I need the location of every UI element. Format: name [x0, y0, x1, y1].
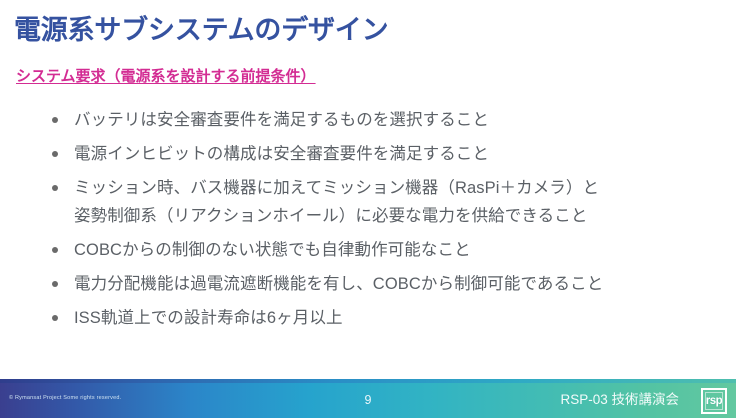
- list-item-line-1: ミッション時、バス機器に加えてミッション機器（RasPi＋カメラ）と: [74, 179, 599, 197]
- footer-content: © Rymansat Project Some rights reserved.…: [0, 383, 736, 418]
- rsp-logo: rsp: [701, 388, 727, 414]
- list-item: 電力分配機能は過電流遮断機能を有し、COBCから制御可能であること: [52, 270, 722, 298]
- list-item: 電源インヒビットの構成は安全審査要件を満足すること: [52, 140, 722, 168]
- list-item-line-1: バッテリは安全審査要件を満足するものを選択すること: [74, 111, 489, 129]
- list-item-line-1: COBCからの制御のない状態でも自律動作可能なこと: [74, 241, 471, 259]
- section-subtitle: システム要求（電源系を設計する前提条件）: [16, 66, 316, 87]
- list-item-text: ISS軌道上での設計寿命は6ヶ月以上: [74, 304, 722, 332]
- slide-canvas: 電源系サブシステムのデザイン システム要求（電源系を設計する前提条件） バッテリ…: [0, 0, 736, 418]
- list-item: ISS軌道上での設計寿命は6ヶ月以上: [52, 304, 722, 332]
- rsp-logo-text: rsp: [706, 395, 722, 407]
- page-title: 電源系サブシステムのデザイン: [14, 13, 388, 47]
- list-item-text: 電源インヒビットの構成は安全審査要件を満足すること: [74, 140, 722, 168]
- bullet-dot-icon: [52, 185, 58, 191]
- bullet-dot-icon: [52, 151, 58, 157]
- list-item-line-1: ISS軌道上での設計寿命は6ヶ月以上: [74, 309, 343, 327]
- bullet-dot-icon: [52, 315, 58, 321]
- requirements-list: バッテリは安全審査要件を満足するものを選択すること 電源インヒビットの構成は安全…: [52, 106, 722, 338]
- slide-footer: © Rymansat Project Some rights reserved.…: [0, 379, 736, 418]
- list-item-text: 電力分配機能は過電流遮断機能を有し、COBCから制御可能であること: [74, 270, 722, 298]
- list-item-line-1: 電力分配機能は過電流遮断機能を有し、COBCから制御可能であること: [74, 275, 603, 293]
- bullet-dot-icon: [52, 247, 58, 253]
- list-item-line-2: 姿勢制御系（リアクションホイール）に必要な電力を供給できること: [74, 202, 722, 230]
- list-item: ミッション時、バス機器に加えてミッション機器（RasPi＋カメラ）と 姿勢制御系…: [52, 174, 722, 230]
- event-title: RSP-03 技術講演会: [560, 391, 679, 409]
- list-item: COBCからの制御のない状態でも自律動作可能なこと: [52, 236, 722, 264]
- list-item-line-1: 電源インヒビットの構成は安全審査要件を満足すること: [74, 145, 489, 163]
- rsp-logo-frame: rsp: [705, 392, 723, 410]
- bullet-dot-icon: [52, 117, 58, 123]
- list-item-text: バッテリは安全審査要件を満足するものを選択すること: [74, 106, 722, 134]
- bullet-dot-icon: [52, 281, 58, 287]
- list-item-text: COBCからの制御のない状態でも自律動作可能なこと: [74, 236, 722, 264]
- list-item-text: ミッション時、バス機器に加えてミッション機器（RasPi＋カメラ）と 姿勢制御系…: [74, 174, 722, 230]
- list-item: バッテリは安全審査要件を満足するものを選択すること: [52, 106, 722, 134]
